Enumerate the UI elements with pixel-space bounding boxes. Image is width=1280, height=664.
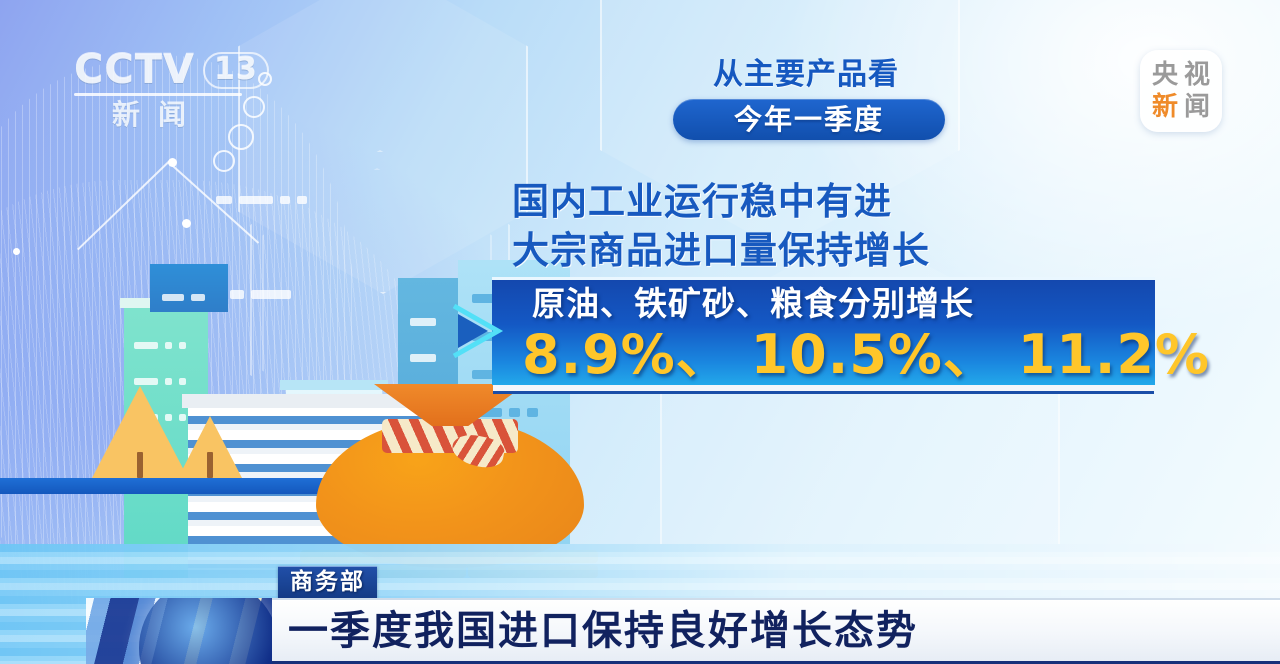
harbor-base-strip [0,478,330,494]
cctv-channel-number: 13 [203,52,269,89]
logo-char-shi: 视 [1184,62,1210,88]
broadcast-graphic-frame: CCTV 13 新闻 央 视 新 闻 从主要产品看 今年一季度 国内工业运行稳中… [0,0,1280,664]
lead-statement-block: 国内工业运行稳中有进 大宗商品进口量保持增长 [512,178,1112,276]
logo-char-xin: 新 [1152,94,1178,120]
source-tag-label: 商务部 [290,571,365,594]
yangshi-news-app-logo: 央 视 新 闻 [1140,50,1222,132]
period-pill-label: 今年一季度 [734,106,884,134]
sailboat-large [92,386,188,478]
cctv-logo-subtitle: 新闻 [74,101,242,129]
floating-dashes-upper [216,196,307,204]
building-blue-cap [150,264,228,312]
cctv13-channel-logo: CCTV 13 新闻 [74,50,242,142]
cctv-letters: CCTV [74,50,195,90]
lower-third-caption-bar: 一季度我国进口保持良好增长态势 [272,598,1280,664]
floating-dashes-lower [230,290,291,299]
source-tag: 商务部 [278,566,377,598]
logo-char-yang: 央 [1152,62,1178,88]
globe-swirl-graphic [86,598,274,664]
cctv-logo-row: CCTV 13 [74,50,242,90]
period-pill-badge: 今年一季度 [673,99,945,140]
caption-headline: 一季度我国进口保持良好增长态势 [288,611,918,651]
highlight-banner: 原油、铁矿砂、粮食分别增长 8.9%、 10.5%、 11.2% [492,277,1155,385]
banner-values: 8.9%、 10.5%、 11.2% [522,324,1142,386]
lead-line-1: 国内工业运行稳中有进 [512,178,1112,227]
lead-line-2: 大宗商品进口量保持增长 [512,227,1112,276]
kicker-text: 从主要产品看 [713,58,899,91]
sailboat-small [178,416,242,478]
logo-char-wen: 闻 [1184,94,1210,120]
banner-title: 原油、铁矿砂、粮食分别增长 [532,284,974,324]
cctv-logo-underline [74,93,242,96]
play-triangle-icon [448,302,504,360]
